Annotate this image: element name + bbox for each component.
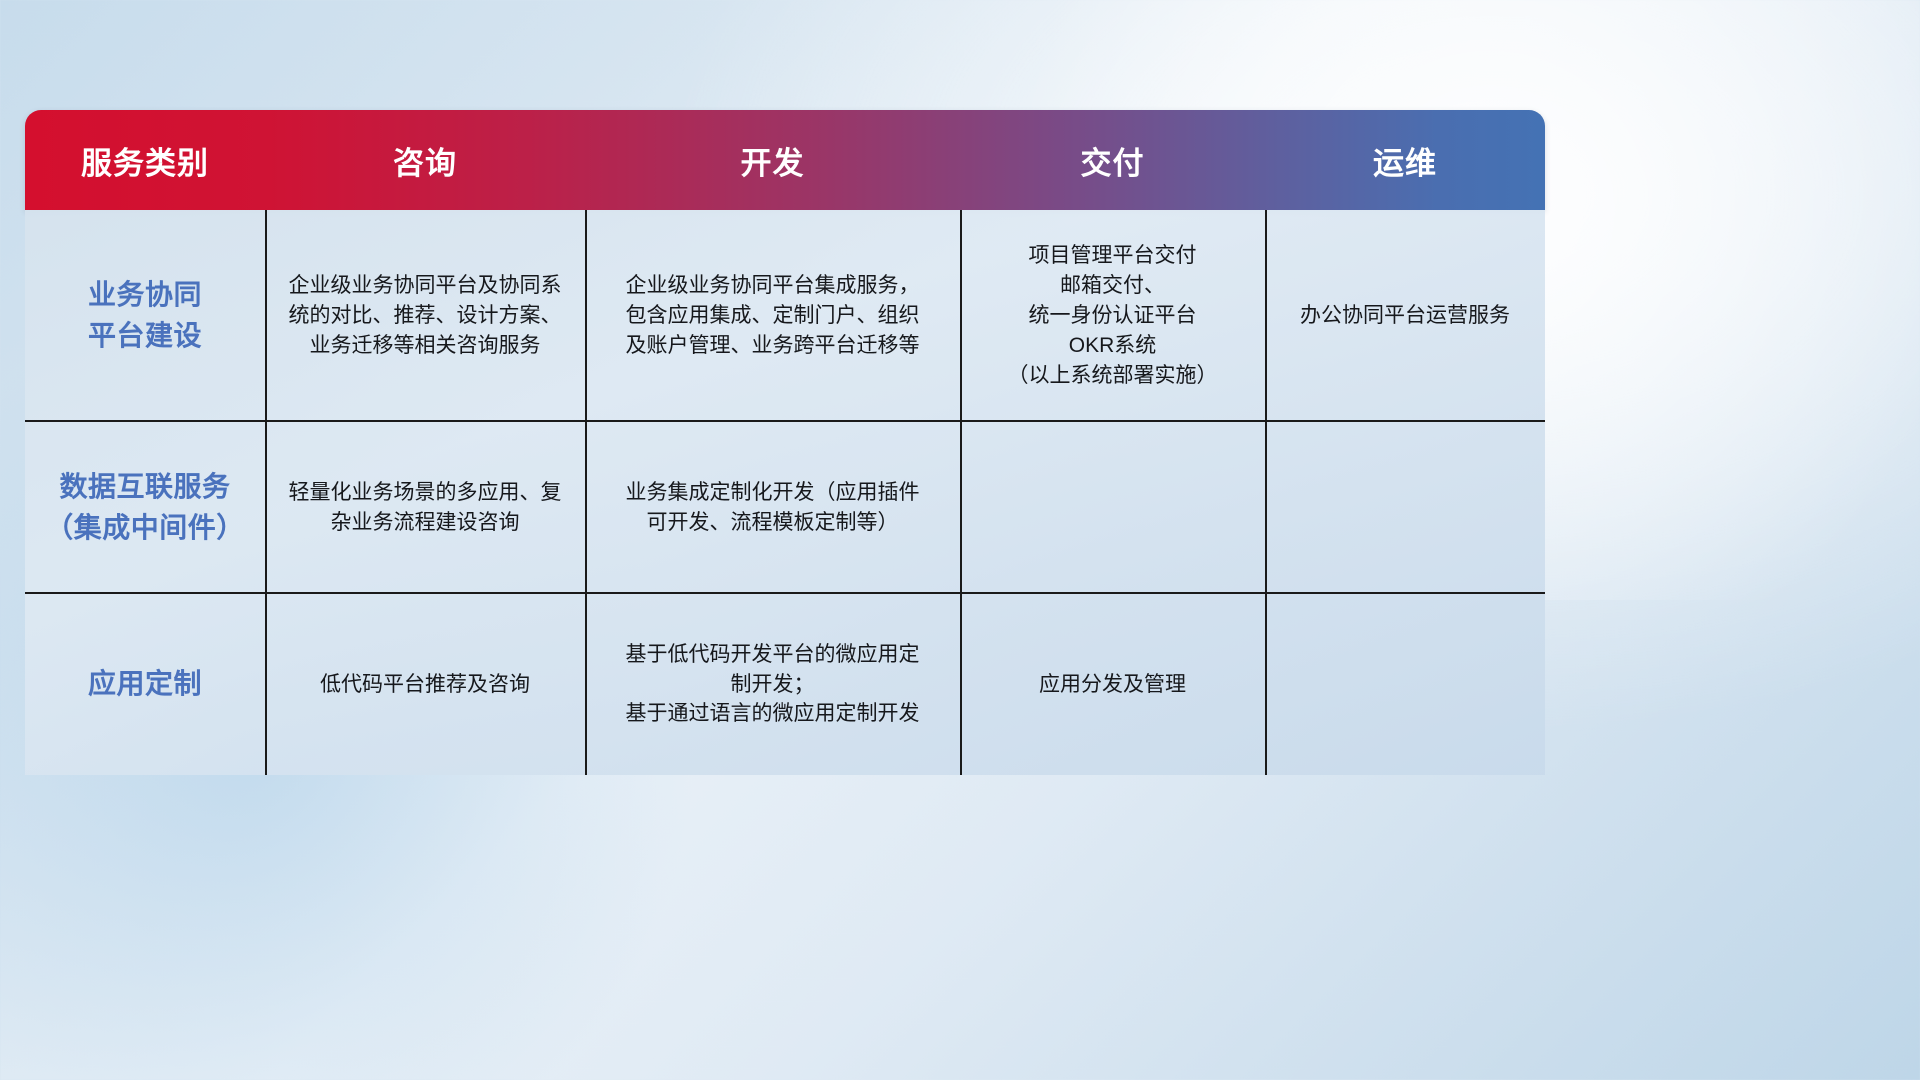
table-row: 业务协同 平台建设 企业级业务协同平台及协同系 统的对比、推荐、设计方案、 业务…	[25, 210, 1545, 422]
row-consulting-cell: 企业级业务协同平台及协同系 统的对比、推荐、设计方案、 业务迁移等相关咨询服务	[265, 210, 585, 422]
row-category-label: 数据互联服务 （集成中间件）	[25, 422, 265, 594]
row-development-cell: 基于低代码开发平台的微应用定 制开发； 基于通过语言的微应用定制开发	[585, 594, 960, 775]
row-operations-cell	[1265, 422, 1545, 594]
row-operations-cell	[1265, 594, 1545, 775]
table-row: 数据互联服务 （集成中间件） 轻量化业务场景的多应用、复 杂业务流程建设咨询 业…	[25, 422, 1545, 594]
row-category-label: 业务协同 平台建设	[25, 210, 265, 422]
row-delivery-cell: 项目管理平台交付 邮箱交付、 统一身份认证平台 OKR系统 （以上系统部署实施）	[960, 210, 1265, 422]
row-development-cell: 业务集成定制化开发（应用插件 可开发、流程模板定制等）	[585, 422, 960, 594]
table-header-row: 服务类别 咨询 开发 交付 运维	[25, 110, 1545, 210]
row-delivery-cell: 应用分发及管理	[960, 594, 1265, 775]
table-row: 应用定制 低代码平台推荐及咨询 基于低代码开发平台的微应用定 制开发； 基于通过…	[25, 594, 1545, 775]
table-header-consulting: 咨询	[265, 138, 585, 183]
row-consulting-cell: 轻量化业务场景的多应用、复 杂业务流程建设咨询	[265, 422, 585, 594]
row-delivery-cell	[960, 422, 1265, 594]
row-category-label: 应用定制	[25, 594, 265, 775]
table-header-service-category: 服务类别	[25, 138, 265, 183]
row-consulting-cell: 低代码平台推荐及咨询	[265, 594, 585, 775]
table-header-operations: 运维	[1265, 138, 1545, 183]
row-operations-cell: 办公协同平台运营服务	[1265, 210, 1545, 422]
table-header-delivery: 交付	[960, 138, 1265, 183]
table-header-development: 开发	[585, 138, 960, 183]
row-development-cell: 企业级业务协同平台集成服务， 包含应用集成、定制门户、组织 及账户管理、业务跨平…	[585, 210, 960, 422]
service-matrix-table: 服务类别 咨询 开发 交付 运维 业务协同 平台建设 企业级业务协同平台及协同系…	[25, 110, 1545, 775]
table-body: 业务协同 平台建设 企业级业务协同平台及协同系 统的对比、推荐、设计方案、 业务…	[25, 210, 1545, 775]
